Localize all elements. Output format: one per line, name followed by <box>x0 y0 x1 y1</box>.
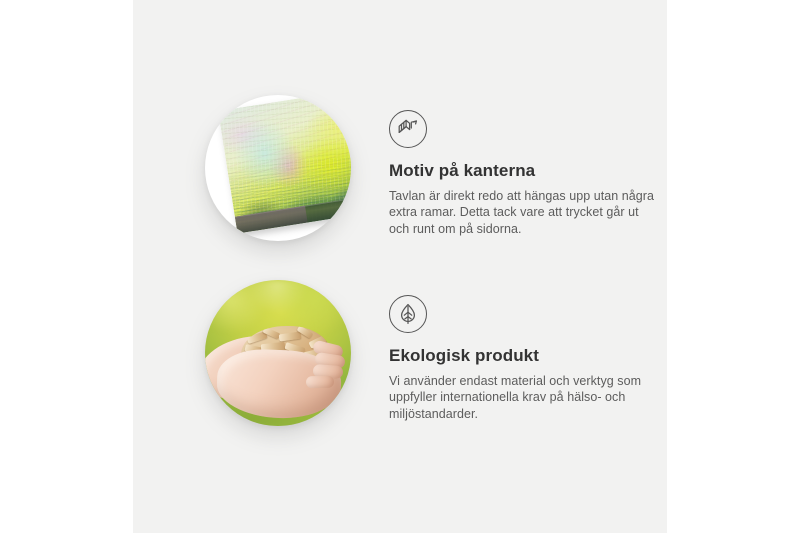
feature-text-block: Motiv på kanterna Tavlan är direkt redo … <box>389 95 657 237</box>
canvas-corner-photo <box>205 95 351 241</box>
left-white-band <box>0 0 133 533</box>
feature-text-block: Ekologisk produkt Vi använder endast mat… <box>389 280 657 422</box>
feature-body: Tavlan är direkt redo att hängas upp uta… <box>389 188 657 237</box>
feature-row-motiv-pa-kanterna: Motiv på kanterna Tavlan är direkt redo … <box>205 95 657 241</box>
canvas-corner-shape <box>218 95 351 234</box>
canvas-edge-print-icon <box>389 110 427 148</box>
product-feature-infographic: Motiv på kanterna Tavlan är direkt redo … <box>0 0 800 533</box>
finger <box>306 376 334 388</box>
feature-row-ekologisk-produkt: Ekologisk produkt Vi använder endast mat… <box>205 280 657 426</box>
leaf-icon <box>389 295 427 333</box>
feature-body: Vi använder endast material och verktyg … <box>389 373 657 422</box>
content-panel: Motiv på kanterna Tavlan är direkt redo … <box>133 0 667 533</box>
hands-wood-chips-photo <box>205 280 351 426</box>
feature-title: Ekologisk produkt <box>389 346 657 366</box>
feature-title: Motiv på kanterna <box>389 161 657 181</box>
right-white-band <box>667 0 800 533</box>
